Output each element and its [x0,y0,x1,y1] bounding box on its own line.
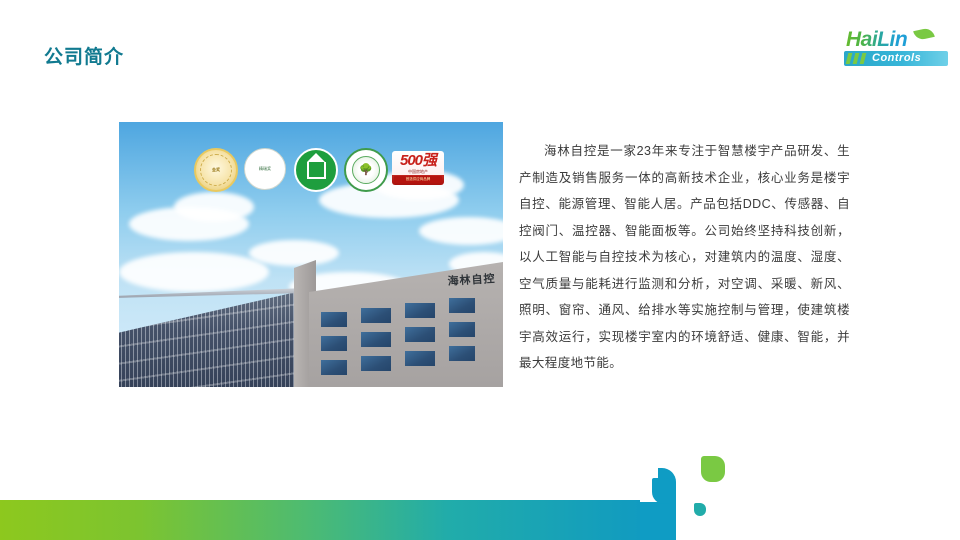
green-product-badge: 精瑞奖 [244,148,286,190]
top-500-sub: 中国房地产 [392,169,444,175]
green-product-badge-label: 精瑞奖 [259,167,271,171]
slide-company-profile: 公司简介 HaiLin Controls 海林自控 [0,0,960,540]
wreath-icon: 🌳 [352,156,380,184]
footer-decoration-green-leaf [701,456,725,482]
page-title: 公司简介 [44,42,124,69]
company-building-photo: 海林自控 金奖 精瑞奖 [119,122,503,387]
house-icon [307,162,326,179]
company-description: 海林自控是一家23年来专注于智慧楼宇产品研发、生产制造及销售服务一体的高新技术企… [519,138,850,377]
building-sign: 海林自控 [447,270,496,289]
footer-gradient-bar [0,500,640,540]
building-left-block [119,290,305,387]
top-500-badge: 500强 中国房地产 首选供应商品牌 [392,151,444,185]
wreath-emblem-badge: 🌳 [344,148,388,192]
footer-decoration-blue-leaf [652,478,676,504]
leaf-icon [913,27,935,41]
gold-seal-inner: 金奖 [200,154,232,186]
building-floor-lines [119,290,305,387]
top-500-number: 500强 [392,151,444,169]
building-window-grid [321,298,491,386]
cloud-shape [119,252,269,292]
logo-banner: Controls [844,51,948,66]
gold-seal-badge: 金奖 [194,148,238,192]
logo-subtext: Controls [872,52,921,65]
top-500-ribbon: 首选供应商品牌 [394,176,442,183]
hailin-logo: HaiLin Controls [834,28,952,72]
house-certification-badge [294,148,338,192]
cloud-shape [174,192,254,222]
logo-bars-icon [847,53,869,64]
logo-wordmark: HaiLin [846,28,907,52]
leaf-glyph-icon: 🌳 [359,165,373,176]
cloud-shape [419,217,503,245]
cloud-shape [249,240,339,266]
footer-decoration-teal-dot [694,503,706,516]
certification-badges: 金奖 精瑞奖 🌳 500强 中国房地产 首选供应商品牌 [194,148,434,190]
